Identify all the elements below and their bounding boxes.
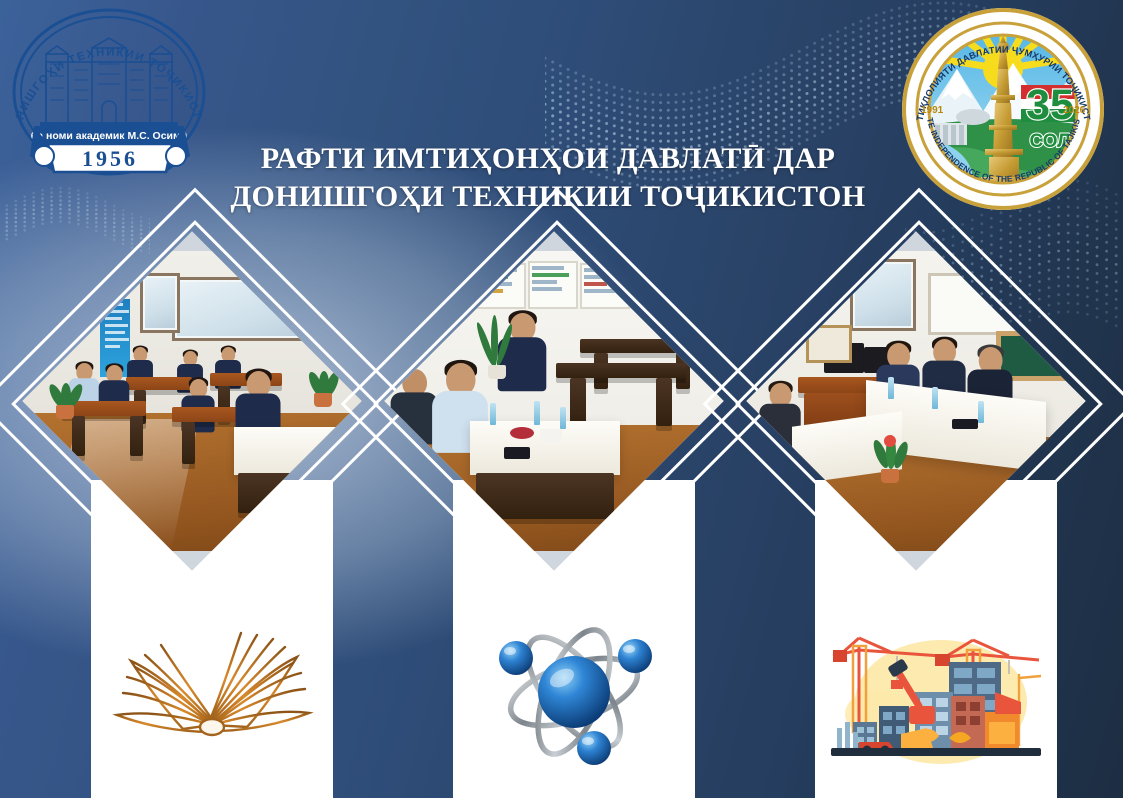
poster-canvas: ДОНИШГОҲИ ТЕХНИКИИ ТОҶИКИСТОН ба номи ак… <box>0 0 1123 798</box>
photo-frame-1: Имтиҳони хаттӣ <box>36 245 348 557</box>
independence-year-end: 2026 <box>1063 105 1086 116</box>
page-title-line-1: РАФТИ ИМТИҲОНҲОИ ДАВЛАТӢ ДАР <box>168 140 928 178</box>
icon-slot-2: Атом <box>453 600 695 780</box>
emblem-left-ribbon-text: ба номи академик М.С. Осимӣ <box>31 130 187 142</box>
construction-site-icon <box>823 610 1049 770</box>
icon-slot-3: Сохтмон <box>815 610 1057 790</box>
open-book-icon <box>97 605 327 755</box>
icon-slot-3-label: Сохтмон <box>815 770 816 771</box>
atom-icon <box>474 600 674 780</box>
photo-frame-1-caption: Имтиҳони хаттӣ <box>36 245 37 246</box>
icon-slot-1: Китоби кушод <box>91 605 333 785</box>
photo-frame-2-caption: Имтиҳони шифоҳӣ <box>398 245 399 246</box>
photo-frame-2: Имтиҳони шифоҳӣ <box>398 245 710 557</box>
state-independence-35-years-emblem: 35 СОЛ ИСТИҚЛОЛИЯТИ ДАВЛАТИИ ҶУМҲУРИИ ТО… <box>901 7 1106 212</box>
icon-slot-1-label: Китоби кушод <box>91 755 92 756</box>
photo-frame-3-caption: Комиссияи давлатӣ <box>760 245 761 246</box>
independence-year-start: 1991 <box>921 105 944 116</box>
photo-frame-3: Комиссияи давлатӣ <box>760 245 1072 557</box>
emblem-left-year: 1956 <box>82 146 138 171</box>
